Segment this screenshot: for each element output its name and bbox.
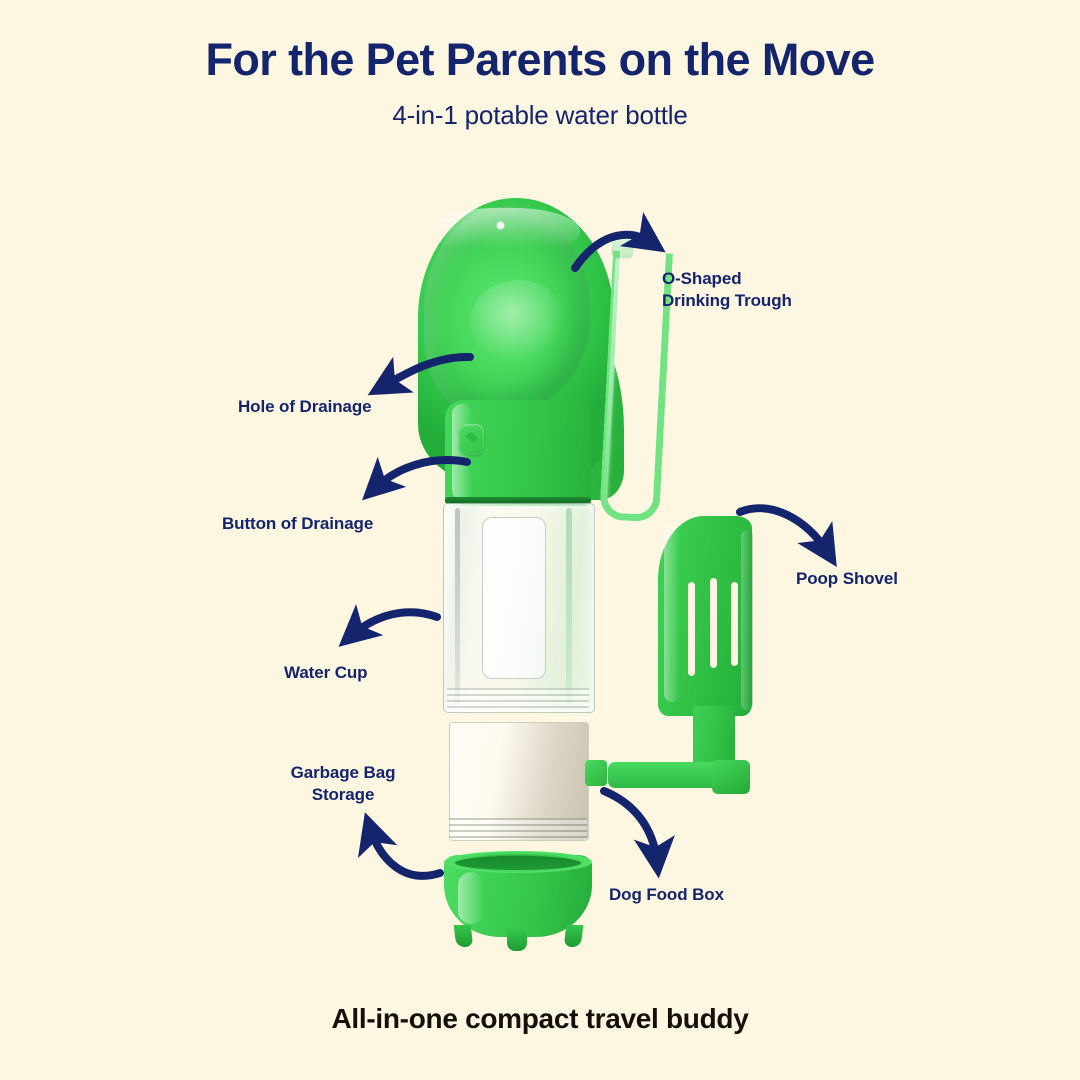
callout-dog-food-box: Dog Food Box: [609, 884, 724, 906]
callout-o-shaped-drinking-trough: O-Shaped Drinking Trough: [662, 268, 792, 313]
cap-gloss: [470, 280, 566, 364]
drainage-hole: [497, 222, 504, 229]
shovel-slot: [731, 582, 738, 666]
footer-caption: All-in-one compact travel buddy: [0, 1003, 1080, 1035]
callout-hole-of-drainage: Hole of Drainage: [238, 396, 371, 418]
food-box-thread-ring: [449, 818, 587, 840]
shovel-foot-block: [712, 760, 750, 794]
callout-button-of-drainage: Button of Drainage: [222, 513, 373, 535]
callout-garbage-bag-storage: Garbage Bag Storage: [281, 762, 405, 807]
product-illustration: [0, 0, 1080, 1080]
infographic-canvas: For the Pet Parents on the Move 4-in-1 p…: [0, 0, 1080, 1080]
bowl-foot: [454, 925, 474, 947]
bowl-foot: [507, 929, 527, 951]
cup-right-edge: [566, 508, 572, 704]
callout-poop-shovel: Poop Shovel: [796, 568, 898, 590]
food-box-clip: [585, 760, 607, 786]
cap-rim-highlight: [430, 208, 580, 248]
shovel-slot: [710, 578, 717, 668]
bowl-gloss: [458, 872, 484, 924]
cup-left-edge: [455, 508, 460, 704]
shovel-blade-fold: [741, 530, 753, 710]
cup-window-panel: [482, 517, 546, 679]
shovel-slot: [688, 582, 695, 676]
callout-water-cup: Water Cup: [284, 662, 367, 684]
bowl-inner-rim: [455, 856, 581, 870]
shovel-blade-highlight: [664, 524, 680, 702]
bowl-foot: [564, 925, 584, 947]
cup-thread-ring: [447, 688, 589, 712]
